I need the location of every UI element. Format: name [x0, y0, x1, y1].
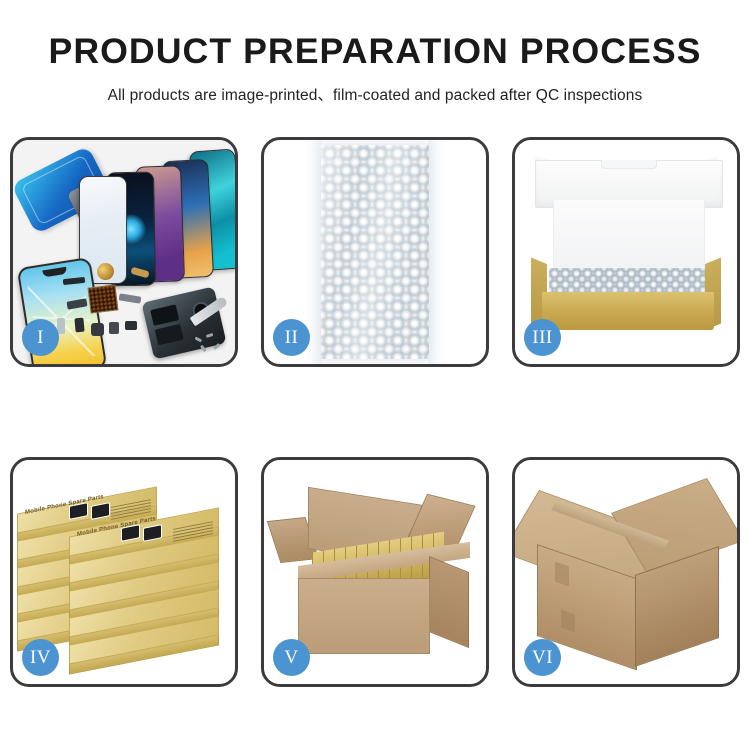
phone-display-fan	[73, 148, 235, 276]
shield-plate-icon	[125, 321, 137, 330]
step-badge-5: V	[273, 639, 310, 676]
spare-parts-box	[69, 630, 219, 658]
steps-grid: I II	[10, 137, 740, 687]
step-panel-2: II	[261, 137, 489, 367]
step-panel-5: V	[261, 457, 489, 687]
bubble-wrap-icon	[321, 145, 429, 359]
page-title: PRODUCT PREPARATION PROCESS	[0, 34, 750, 71]
wrap-edge-right	[428, 140, 444, 364]
box-stack-right: Mobile Phone Spare Parts	[69, 522, 219, 657]
carton-side-right	[429, 556, 469, 648]
step-badge-4: IV	[22, 639, 59, 676]
carton-front-panel	[298, 578, 430, 654]
step-panel-6: VI	[512, 457, 740, 687]
box-inner-wall	[553, 200, 705, 270]
step-badge-1: I	[22, 319, 59, 356]
plastic-sheen	[321, 145, 429, 359]
battery-connector-icon	[91, 323, 104, 336]
chip-grid-icon	[88, 284, 119, 313]
step-badge-3: III	[524, 319, 561, 356]
product-preparation-infographic: PRODUCT PREPARATION PROCESS All products…	[0, 0, 750, 750]
camera-module-icon	[74, 318, 84, 333]
header: PRODUCT PREPARATION PROCESS All products…	[0, 0, 750, 105]
step-badge-2: II	[273, 319, 310, 356]
step-panel-4: Mobile Phone Spare Parts Mobile Phone S	[10, 457, 238, 687]
step-panel-1: I	[10, 137, 238, 367]
small-part-icon	[109, 322, 119, 334]
step-badge-6: VI	[524, 639, 561, 676]
screws-icon	[195, 334, 225, 356]
box-front-panel	[542, 292, 714, 330]
page-subtitle: All products are image-printed、film-coat…	[0, 83, 750, 105]
step-panel-3: III	[512, 137, 740, 367]
